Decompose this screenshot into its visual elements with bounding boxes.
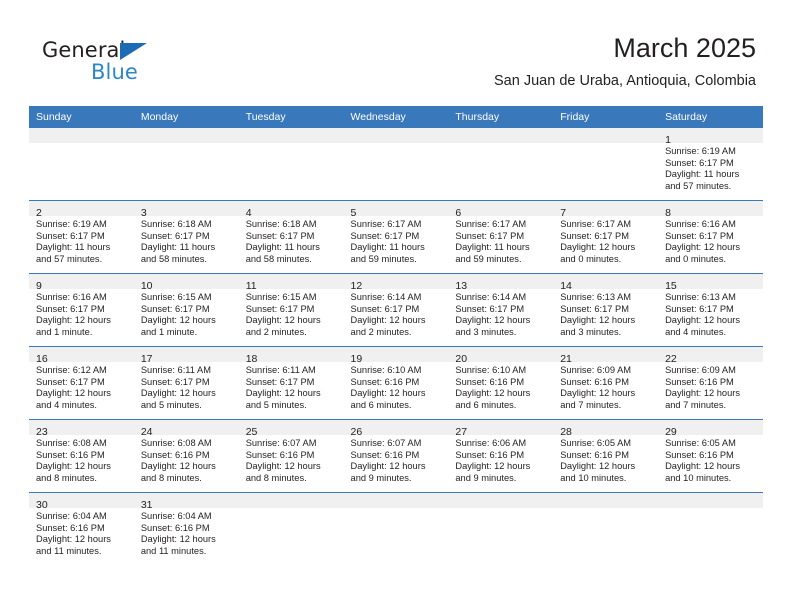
calendar-day-cell-empty	[344, 493, 449, 566]
sunset-text: Sunset: 6:17 PM	[665, 304, 757, 316]
day-number: 21	[560, 353, 572, 365]
day-details: Sunrise: 6:16 AMSunset: 6:17 PMDaylight:…	[658, 216, 763, 265]
daylight-text-line1: Daylight: 12 hours	[141, 315, 233, 327]
calendar-grid: SundayMondayTuesdayWednesdayThursdayFrid…	[29, 106, 763, 565]
day-number-band: 23	[29, 420, 134, 435]
daylight-text-line1: Daylight: 12 hours	[351, 315, 443, 327]
calendar-day-cell-empty	[239, 128, 344, 201]
day-details: Sunrise: 6:18 AMSunset: 6:17 PMDaylight:…	[239, 216, 344, 265]
sunrise-text: Sunrise: 6:18 AM	[246, 219, 338, 231]
sunset-text: Sunset: 6:17 PM	[36, 231, 128, 243]
day-number: 17	[141, 353, 153, 365]
daylight-text-line1: Daylight: 12 hours	[351, 461, 443, 473]
calendar-day-cell[interactable]: 17Sunrise: 6:11 AMSunset: 6:17 PMDayligh…	[134, 347, 239, 420]
calendar-week-row: 23Sunrise: 6:08 AMSunset: 6:16 PMDayligh…	[29, 420, 763, 493]
calendar-day-cell-empty	[658, 493, 763, 566]
general-blue-logo[interactable]: General Blue	[42, 38, 222, 88]
daylight-text-line2: and 7 minutes.	[560, 400, 652, 412]
day-number-band: 7	[553, 201, 658, 216]
day-number: 9	[36, 280, 42, 292]
daylight-text-line2: and 3 minutes.	[455, 327, 547, 339]
daylight-text-line2: and 58 minutes.	[141, 254, 233, 266]
calendar-day-cell-empty	[553, 493, 658, 566]
day-number: 29	[665, 426, 677, 438]
sunrise-text: Sunrise: 6:07 AM	[351, 438, 443, 450]
day-number-band	[553, 128, 658, 143]
day-number: 15	[665, 280, 677, 292]
calendar-day-cell[interactable]: 13Sunrise: 6:14 AMSunset: 6:17 PMDayligh…	[448, 274, 553, 347]
day-number: 13	[455, 280, 467, 292]
daylight-text-line2: and 59 minutes.	[455, 254, 547, 266]
calendar-week-row: 1Sunrise: 6:19 AMSunset: 6:17 PMDaylight…	[29, 128, 763, 201]
sunrise-text: Sunrise: 6:15 AM	[141, 292, 233, 304]
daylight-text-line1: Daylight: 12 hours	[246, 388, 338, 400]
daylight-text-line2: and 4 minutes.	[36, 400, 128, 412]
day-number-band: 20	[448, 347, 553, 362]
daylight-text-line1: Daylight: 12 hours	[36, 534, 128, 546]
daylight-text-line1: Daylight: 12 hours	[560, 388, 652, 400]
sunset-text: Sunset: 6:16 PM	[665, 450, 757, 462]
weekday-header-friday: Friday	[553, 106, 658, 128]
day-details: Sunrise: 6:07 AMSunset: 6:16 PMDaylight:…	[344, 435, 449, 484]
calendar-day-cell-empty	[448, 493, 553, 566]
daylight-text-line1: Daylight: 12 hours	[560, 315, 652, 327]
day-details: Sunrise: 6:19 AMSunset: 6:17 PMDaylight:…	[29, 216, 134, 265]
daylight-text-line2: and 0 minutes.	[665, 254, 757, 266]
day-number: 28	[560, 426, 572, 438]
day-number: 27	[455, 426, 467, 438]
page-title: March 2025	[494, 32, 756, 64]
day-details: Sunrise: 6:04 AMSunset: 6:16 PMDaylight:…	[29, 508, 134, 557]
calendar-day-cell[interactable]: 22Sunrise: 6:09 AMSunset: 6:16 PMDayligh…	[658, 347, 763, 420]
day-number: 3	[141, 207, 147, 219]
day-details: Sunrise: 6:19 AMSunset: 6:17 PMDaylight:…	[658, 143, 763, 192]
calendar-day-cell-empty	[134, 128, 239, 201]
day-number-band: 29	[658, 420, 763, 435]
day-number: 31	[141, 499, 153, 511]
calendar-day-cell[interactable]: 30Sunrise: 6:04 AMSunset: 6:16 PMDayligh…	[29, 493, 134, 566]
day-number-band: 28	[553, 420, 658, 435]
sunset-text: Sunset: 6:17 PM	[455, 231, 547, 243]
daylight-text-line2: and 8 minutes.	[36, 473, 128, 485]
daylight-text-line2: and 6 minutes.	[351, 400, 443, 412]
day-number-band: 13	[448, 274, 553, 289]
daylight-text-line2: and 6 minutes.	[455, 400, 547, 412]
daylight-text-line1: Daylight: 12 hours	[665, 461, 757, 473]
sunset-text: Sunset: 6:16 PM	[36, 523, 128, 535]
day-number-band: 6	[448, 201, 553, 216]
sunset-text: Sunset: 6:16 PM	[141, 450, 233, 462]
day-details: Sunrise: 6:17 AMSunset: 6:17 PMDaylight:…	[344, 216, 449, 265]
daylight-text-line2: and 59 minutes.	[351, 254, 443, 266]
daylight-text-line2: and 10 minutes.	[665, 473, 757, 485]
day-details: Sunrise: 6:11 AMSunset: 6:17 PMDaylight:…	[134, 362, 239, 411]
sunrise-text: Sunrise: 6:05 AM	[560, 438, 652, 450]
daylight-text-line1: Daylight: 12 hours	[455, 315, 547, 327]
page-header: General Blue March 2025 San Juan de Urab…	[0, 0, 792, 104]
day-number-band: 3	[134, 201, 239, 216]
calendar-day-cell[interactable]: 12Sunrise: 6:14 AMSunset: 6:17 PMDayligh…	[344, 274, 449, 347]
day-number: 20	[455, 353, 467, 365]
daylight-text-line1: Daylight: 12 hours	[665, 315, 757, 327]
day-number-band: 9	[29, 274, 134, 289]
sunset-text: Sunset: 6:17 PM	[351, 231, 443, 243]
day-number-band: 21	[553, 347, 658, 362]
day-number-band: 22	[658, 347, 763, 362]
day-number-band	[448, 493, 553, 508]
day-number-band: 12	[344, 274, 449, 289]
calendar-day-cell[interactable]: 27Sunrise: 6:06 AMSunset: 6:16 PMDayligh…	[448, 420, 553, 493]
day-number-band	[448, 128, 553, 143]
day-number: 2	[36, 207, 42, 219]
day-number-band: 25	[239, 420, 344, 435]
calendar-day-cell[interactable]: 19Sunrise: 6:10 AMSunset: 6:16 PMDayligh…	[344, 347, 449, 420]
sunrise-text: Sunrise: 6:11 AM	[246, 365, 338, 377]
day-number-band	[344, 128, 449, 143]
title-block: March 2025 San Juan de Uraba, Antioquia,…	[494, 32, 756, 91]
day-number: 30	[36, 499, 48, 511]
sunset-text: Sunset: 6:17 PM	[560, 304, 652, 316]
sunrise-text: Sunrise: 6:18 AM	[141, 219, 233, 231]
sunrise-text: Sunrise: 6:17 AM	[455, 219, 547, 231]
daylight-text-line2: and 0 minutes.	[560, 254, 652, 266]
daylight-text-line1: Daylight: 12 hours	[36, 388, 128, 400]
sunset-text: Sunset: 6:16 PM	[560, 450, 652, 462]
daylight-text-line2: and 5 minutes.	[141, 400, 233, 412]
daylight-text-line1: Daylight: 12 hours	[665, 388, 757, 400]
calendar-day-cell[interactable]: 16Sunrise: 6:12 AMSunset: 6:17 PMDayligh…	[29, 347, 134, 420]
day-number-band	[29, 128, 134, 143]
day-number: 11	[246, 280, 257, 292]
sunrise-text: Sunrise: 6:14 AM	[351, 292, 443, 304]
sunset-text: Sunset: 6:16 PM	[560, 377, 652, 389]
day-details: Sunrise: 6:13 AMSunset: 6:17 PMDaylight:…	[553, 289, 658, 338]
calendar-day-cell[interactable]: 23Sunrise: 6:08 AMSunset: 6:16 PMDayligh…	[29, 420, 134, 493]
sunrise-text: Sunrise: 6:17 AM	[560, 219, 652, 231]
daylight-text-line2: and 57 minutes.	[36, 254, 128, 266]
calendar-day-cell[interactable]: 28Sunrise: 6:05 AMSunset: 6:16 PMDayligh…	[553, 420, 658, 493]
sunset-text: Sunset: 6:16 PM	[455, 450, 547, 462]
sunrise-text: Sunrise: 6:10 AM	[455, 365, 547, 377]
calendar-day-cell-empty	[553, 128, 658, 201]
day-number-band: 8	[658, 201, 763, 216]
daylight-text-line2: and 9 minutes.	[455, 473, 547, 485]
calendar-header-row: SundayMondayTuesdayWednesdayThursdayFrid…	[29, 106, 763, 128]
sunset-text: Sunset: 6:17 PM	[665, 231, 757, 243]
calendar-day-cell-empty	[344, 128, 449, 201]
sunrise-text: Sunrise: 6:09 AM	[665, 365, 757, 377]
calendar-week-row: 9Sunrise: 6:16 AMSunset: 6:17 PMDaylight…	[29, 274, 763, 347]
daylight-text-line1: Daylight: 12 hours	[141, 534, 233, 546]
daylight-text-line1: Daylight: 12 hours	[36, 461, 128, 473]
daylight-text-line2: and 8 minutes.	[141, 473, 233, 485]
day-number-band: 10	[134, 274, 239, 289]
sunset-text: Sunset: 6:16 PM	[36, 450, 128, 462]
day-number: 18	[246, 353, 258, 365]
day-number-band: 16	[29, 347, 134, 362]
sunset-text: Sunset: 6:17 PM	[246, 377, 338, 389]
day-number: 10	[141, 280, 153, 292]
calendar-day-cell[interactable]: 7Sunrise: 6:17 AMSunset: 6:17 PMDaylight…	[553, 201, 658, 274]
daylight-text-line1: Daylight: 11 hours	[246, 242, 338, 254]
sunset-text: Sunset: 6:17 PM	[141, 231, 233, 243]
daylight-text-line2: and 8 minutes.	[246, 473, 338, 485]
day-details: Sunrise: 6:09 AMSunset: 6:16 PMDaylight:…	[658, 362, 763, 411]
logo-text-blue: Blue	[91, 60, 138, 84]
day-details: Sunrise: 6:13 AMSunset: 6:17 PMDaylight:…	[658, 289, 763, 338]
day-number: 7	[560, 207, 566, 219]
day-number-band	[239, 493, 344, 508]
day-details: Sunrise: 6:09 AMSunset: 6:16 PMDaylight:…	[553, 362, 658, 411]
sunset-text: Sunset: 6:17 PM	[560, 231, 652, 243]
daylight-text-line2: and 9 minutes.	[351, 473, 443, 485]
day-number: 8	[665, 207, 671, 219]
day-number: 12	[351, 280, 363, 292]
sunset-text: Sunset: 6:17 PM	[36, 377, 128, 389]
daylight-text-line1: Daylight: 11 hours	[665, 169, 757, 181]
day-details: Sunrise: 6:14 AMSunset: 6:17 PMDaylight:…	[448, 289, 553, 338]
daylight-text-line1: Daylight: 12 hours	[560, 461, 652, 473]
sunrise-text: Sunrise: 6:19 AM	[36, 219, 128, 231]
day-details: Sunrise: 6:18 AMSunset: 6:17 PMDaylight:…	[134, 216, 239, 265]
calendar-day-cell[interactable]: 11Sunrise: 6:15 AMSunset: 6:17 PMDayligh…	[239, 274, 344, 347]
calendar-day-cell[interactable]: 6Sunrise: 6:17 AMSunset: 6:17 PMDaylight…	[448, 201, 553, 274]
daylight-text-line1: Daylight: 12 hours	[665, 242, 757, 254]
weekday-header-wednesday: Wednesday	[344, 106, 449, 128]
sunset-text: Sunset: 6:17 PM	[141, 377, 233, 389]
sunset-text: Sunset: 6:17 PM	[351, 304, 443, 316]
sunrise-text: Sunrise: 6:16 AM	[665, 219, 757, 231]
day-number-band: 2	[29, 201, 134, 216]
day-number-band: 27	[448, 420, 553, 435]
day-details: Sunrise: 6:05 AMSunset: 6:16 PMDaylight:…	[553, 435, 658, 484]
day-details: Sunrise: 6:14 AMSunset: 6:17 PMDaylight:…	[344, 289, 449, 338]
calendar-body: 1Sunrise: 6:19 AMSunset: 6:17 PMDaylight…	[29, 128, 763, 565]
day-details: Sunrise: 6:16 AMSunset: 6:17 PMDaylight:…	[29, 289, 134, 338]
day-number: 25	[246, 426, 258, 438]
calendar-week-row: 30Sunrise: 6:04 AMSunset: 6:16 PMDayligh…	[29, 493, 763, 566]
day-details: Sunrise: 6:12 AMSunset: 6:17 PMDaylight:…	[29, 362, 134, 411]
calendar-day-cell[interactable]: 25Sunrise: 6:07 AMSunset: 6:16 PMDayligh…	[239, 420, 344, 493]
calendar-day-cell[interactable]: 20Sunrise: 6:10 AMSunset: 6:16 PMDayligh…	[448, 347, 553, 420]
daylight-text-line2: and 58 minutes.	[246, 254, 338, 266]
day-details: Sunrise: 6:17 AMSunset: 6:17 PMDaylight:…	[448, 216, 553, 265]
day-number-band: 18	[239, 347, 344, 362]
day-number: 1	[665, 134, 671, 146]
daylight-text-line1: Daylight: 11 hours	[455, 242, 547, 254]
sunrise-text: Sunrise: 6:04 AM	[36, 511, 128, 523]
sunrise-text: Sunrise: 6:06 AM	[455, 438, 547, 450]
sunset-text: Sunset: 6:16 PM	[455, 377, 547, 389]
daylight-text-line2: and 2 minutes.	[246, 327, 338, 339]
day-number: 19	[351, 353, 363, 365]
day-number: 24	[141, 426, 153, 438]
day-number-band: 26	[344, 420, 449, 435]
calendar-week-row: 16Sunrise: 6:12 AMSunset: 6:17 PMDayligh…	[29, 347, 763, 420]
sunrise-text: Sunrise: 6:13 AM	[560, 292, 652, 304]
day-details: Sunrise: 6:15 AMSunset: 6:17 PMDaylight:…	[239, 289, 344, 338]
calendar-day-cell[interactable]: 1Sunrise: 6:19 AMSunset: 6:17 PMDaylight…	[658, 128, 763, 201]
daylight-text-line2: and 1 minute.	[141, 327, 233, 339]
sunset-text: Sunset: 6:17 PM	[246, 231, 338, 243]
sunrise-text: Sunrise: 6:17 AM	[351, 219, 443, 231]
daylight-text-line1: Daylight: 12 hours	[141, 461, 233, 473]
day-number-band: 17	[134, 347, 239, 362]
sunrise-text: Sunrise: 6:15 AM	[246, 292, 338, 304]
calendar-day-cell[interactable]: 31Sunrise: 6:04 AMSunset: 6:16 PMDayligh…	[134, 493, 239, 566]
daylight-text-line2: and 7 minutes.	[665, 400, 757, 412]
calendar-day-cell[interactable]: 15Sunrise: 6:13 AMSunset: 6:17 PMDayligh…	[658, 274, 763, 347]
day-number: 16	[36, 353, 48, 365]
day-number-band	[239, 128, 344, 143]
day-number: 22	[665, 353, 677, 365]
day-number-band	[658, 493, 763, 508]
day-number: 6	[455, 207, 461, 219]
calendar-day-cell[interactable]: 24Sunrise: 6:08 AMSunset: 6:16 PMDayligh…	[134, 420, 239, 493]
day-number: 23	[36, 426, 48, 438]
day-details: Sunrise: 6:10 AMSunset: 6:16 PMDaylight:…	[344, 362, 449, 411]
daylight-text-line1: Daylight: 12 hours	[36, 315, 128, 327]
logo-triangle-icon	[120, 43, 147, 60]
daylight-text-line1: Daylight: 12 hours	[455, 461, 547, 473]
daylight-text-line2: and 1 minute.	[36, 327, 128, 339]
day-number: 26	[351, 426, 363, 438]
weekday-header-sunday: Sunday	[29, 106, 134, 128]
sunset-text: Sunset: 6:16 PM	[246, 450, 338, 462]
sunrise-text: Sunrise: 6:10 AM	[351, 365, 443, 377]
daylight-text-line1: Daylight: 12 hours	[246, 315, 338, 327]
weekday-header-thursday: Thursday	[448, 106, 553, 128]
calendar-day-cell-empty	[239, 493, 344, 566]
daylight-text-line1: Daylight: 11 hours	[36, 242, 128, 254]
daylight-text-line1: Daylight: 12 hours	[560, 242, 652, 254]
daylight-text-line2: and 10 minutes.	[560, 473, 652, 485]
day-number-band: 14	[553, 274, 658, 289]
day-number: 4	[246, 207, 252, 219]
day-details: Sunrise: 6:15 AMSunset: 6:17 PMDaylight:…	[134, 289, 239, 338]
daylight-text-line1: Daylight: 12 hours	[351, 388, 443, 400]
daylight-text-line1: Daylight: 11 hours	[351, 242, 443, 254]
daylight-text-line1: Daylight: 12 hours	[455, 388, 547, 400]
daylight-text-line2: and 11 minutes.	[141, 546, 233, 558]
sunset-text: Sunset: 6:17 PM	[36, 304, 128, 316]
day-details: Sunrise: 6:10 AMSunset: 6:16 PMDaylight:…	[448, 362, 553, 411]
sunset-text: Sunset: 6:17 PM	[246, 304, 338, 316]
daylight-text-line2: and 11 minutes.	[36, 546, 128, 558]
daylight-text-line2: and 4 minutes.	[665, 327, 757, 339]
sunrise-text: Sunrise: 6:12 AM	[36, 365, 128, 377]
day-number: 5	[351, 207, 357, 219]
day-number-band: 4	[239, 201, 344, 216]
calendar-day-cell[interactable]: 9Sunrise: 6:16 AMSunset: 6:17 PMDaylight…	[29, 274, 134, 347]
calendar-day-cell[interactable]: 3Sunrise: 6:18 AMSunset: 6:17 PMDaylight…	[134, 201, 239, 274]
daylight-text-line1: Daylight: 12 hours	[141, 388, 233, 400]
day-details: Sunrise: 6:06 AMSunset: 6:16 PMDaylight:…	[448, 435, 553, 484]
day-details: Sunrise: 6:07 AMSunset: 6:16 PMDaylight:…	[239, 435, 344, 484]
calendar-day-cell[interactable]: 10Sunrise: 6:15 AMSunset: 6:17 PMDayligh…	[134, 274, 239, 347]
daylight-text-line2: and 2 minutes.	[351, 327, 443, 339]
sunrise-text: Sunrise: 6:07 AM	[246, 438, 338, 450]
sunset-text: Sunset: 6:17 PM	[455, 304, 547, 316]
calendar-day-cell[interactable]: 18Sunrise: 6:11 AMSunset: 6:17 PMDayligh…	[239, 347, 344, 420]
calendar-day-cell[interactable]: 26Sunrise: 6:07 AMSunset: 6:16 PMDayligh…	[344, 420, 449, 493]
sunrise-text: Sunrise: 6:08 AM	[141, 438, 233, 450]
day-details: Sunrise: 6:08 AMSunset: 6:16 PMDaylight:…	[29, 435, 134, 484]
sunrise-text: Sunrise: 6:14 AM	[455, 292, 547, 304]
sunset-text: Sunset: 6:16 PM	[351, 377, 443, 389]
day-number-band	[344, 493, 449, 508]
sunrise-text: Sunrise: 6:05 AM	[665, 438, 757, 450]
calendar-day-cell[interactable]: 29Sunrise: 6:05 AMSunset: 6:16 PMDayligh…	[658, 420, 763, 493]
daylight-text-line2: and 57 minutes.	[665, 181, 757, 193]
calendar-week-row: 2Sunrise: 6:19 AMSunset: 6:17 PMDaylight…	[29, 201, 763, 274]
sunrise-text: Sunrise: 6:13 AM	[665, 292, 757, 304]
sunrise-text: Sunrise: 6:19 AM	[665, 146, 757, 158]
day-number-band	[134, 128, 239, 143]
day-number-band: 19	[344, 347, 449, 362]
day-number: 14	[560, 280, 572, 292]
day-number-band: 24	[134, 420, 239, 435]
day-details: Sunrise: 6:08 AMSunset: 6:16 PMDaylight:…	[134, 435, 239, 484]
calendar-day-cell-empty	[448, 128, 553, 201]
calendar-day-cell[interactable]: 14Sunrise: 6:13 AMSunset: 6:17 PMDayligh…	[553, 274, 658, 347]
calendar-day-cell[interactable]: 8Sunrise: 6:16 AMSunset: 6:17 PMDaylight…	[658, 201, 763, 274]
page-subtitle: San Juan de Uraba, Antioquia, Colombia	[494, 71, 756, 91]
calendar-day-cell[interactable]: 4Sunrise: 6:18 AMSunset: 6:17 PMDaylight…	[239, 201, 344, 274]
day-number-band: 31	[134, 493, 239, 508]
sunset-text: Sunset: 6:17 PM	[141, 304, 233, 316]
day-number-band: 5	[344, 201, 449, 216]
weekday-header-monday: Monday	[134, 106, 239, 128]
sunrise-text: Sunrise: 6:11 AM	[141, 365, 233, 377]
calendar-page: General Blue March 2025 San Juan de Urab…	[0, 0, 792, 612]
daylight-text-line1: Daylight: 12 hours	[246, 461, 338, 473]
sunrise-text: Sunrise: 6:09 AM	[560, 365, 652, 377]
calendar-day-cell[interactable]: 5Sunrise: 6:17 AMSunset: 6:17 PMDaylight…	[344, 201, 449, 274]
day-number-band: 15	[658, 274, 763, 289]
day-number-band	[553, 493, 658, 508]
day-details: Sunrise: 6:05 AMSunset: 6:16 PMDaylight:…	[658, 435, 763, 484]
day-number-band: 11	[239, 274, 344, 289]
calendar-day-cell-empty	[29, 128, 134, 201]
day-details: Sunrise: 6:17 AMSunset: 6:17 PMDaylight:…	[553, 216, 658, 265]
sunset-text: Sunset: 6:17 PM	[665, 158, 757, 170]
day-details: Sunrise: 6:04 AMSunset: 6:16 PMDaylight:…	[134, 508, 239, 557]
sunset-text: Sunset: 6:16 PM	[351, 450, 443, 462]
daylight-text-line1: Daylight: 11 hours	[141, 242, 233, 254]
sunrise-text: Sunrise: 6:08 AM	[36, 438, 128, 450]
calendar-day-cell[interactable]: 2Sunrise: 6:19 AMSunset: 6:17 PMDaylight…	[29, 201, 134, 274]
weekday-header-tuesday: Tuesday	[239, 106, 344, 128]
sunset-text: Sunset: 6:16 PM	[665, 377, 757, 389]
daylight-text-line2: and 3 minutes.	[560, 327, 652, 339]
day-details: Sunrise: 6:11 AMSunset: 6:17 PMDaylight:…	[239, 362, 344, 411]
day-number-band: 1	[658, 128, 763, 143]
sunrise-text: Sunrise: 6:16 AM	[36, 292, 128, 304]
sunrise-text: Sunrise: 6:04 AM	[141, 511, 233, 523]
logo-text-general: General	[42, 38, 125, 62]
day-number-band: 30	[29, 493, 134, 508]
calendar-day-cell[interactable]: 21Sunrise: 6:09 AMSunset: 6:16 PMDayligh…	[553, 347, 658, 420]
weekday-header-saturday: Saturday	[658, 106, 763, 128]
daylight-text-line2: and 5 minutes.	[246, 400, 338, 412]
sunset-text: Sunset: 6:16 PM	[141, 523, 233, 535]
